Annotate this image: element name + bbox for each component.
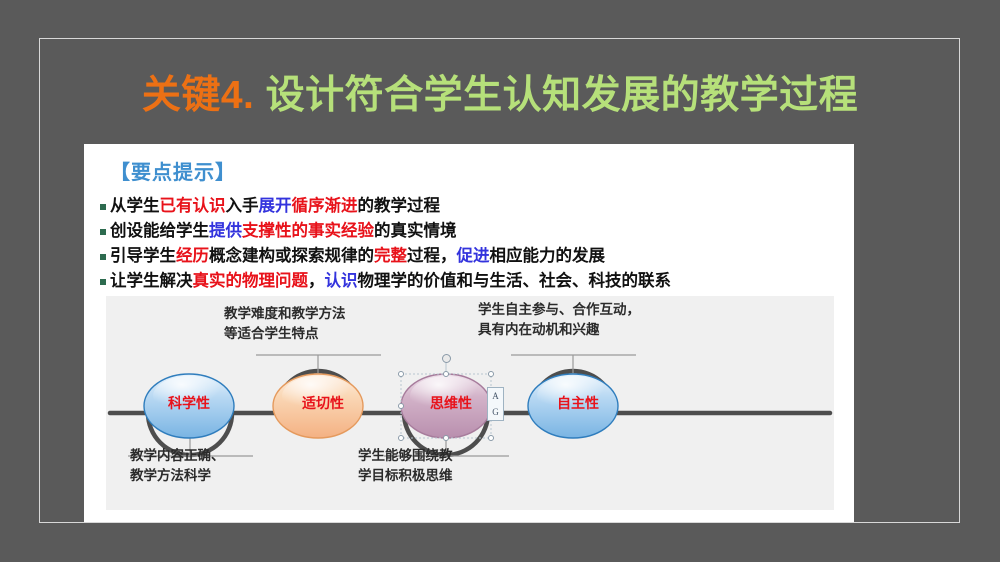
points-heading: 【要点提示】 bbox=[110, 156, 236, 185]
text-segment: 相应能力的发展 bbox=[490, 247, 606, 265]
text-segment: 促进 bbox=[457, 247, 490, 265]
list-item: 创设能给学生提供支撑性的事实经验的真实情境 bbox=[100, 219, 845, 244]
rotate-handle[interactable] bbox=[442, 354, 451, 363]
page-title: 关键4. 设计符合学生认知发展的教学过程 bbox=[0, 74, 1000, 119]
text-segment: 概念建构或探索规律的 bbox=[209, 247, 374, 265]
list-item: 从学生已有认识入手展开循序渐进的教学过程 bbox=[100, 194, 845, 219]
resize-handle-top-left[interactable] bbox=[398, 371, 404, 377]
bullet-list: 从学生已有认识入手展开循序渐进的教学过程 创设能给学生提供支撑性的事实经验的真实… bbox=[100, 194, 845, 294]
floating-format-toolbar[interactable]: A G bbox=[487, 387, 504, 421]
callout-line: 学目标积极思维 bbox=[358, 466, 453, 486]
text-segment: 物理学的价值和与生活、社会、科技的联系 bbox=[358, 272, 672, 290]
diagram-node-1-label[interactable]: 科学性 bbox=[144, 393, 234, 413]
bullet-text: 从学生已有认识入手展开循序渐进的教学过程 bbox=[110, 194, 440, 219]
page-title-main: 设计符合学生认知发展的教学过程 bbox=[254, 74, 858, 117]
square-bullet-icon bbox=[100, 204, 106, 210]
resize-handle-middle-left[interactable] bbox=[398, 403, 404, 409]
shape-fill-icon[interactable]: G bbox=[492, 408, 499, 417]
text-segment: 支撑性的事实经验 bbox=[242, 222, 374, 240]
resize-handle-top-right[interactable] bbox=[488, 371, 494, 377]
diagram-node-4-label[interactable]: 自主性 bbox=[533, 393, 623, 413]
list-item: 让学生解决真实的物理问题，认识物理学的价值和与生活、社会、科技的联系 bbox=[100, 269, 845, 294]
text-segment: 入手 bbox=[226, 197, 259, 215]
resize-handle-top-center[interactable] bbox=[443, 371, 449, 377]
callout-top-right: 学生自主参与、合作互动， 具有内在动机和兴趣 bbox=[478, 300, 640, 340]
text-segment: 循序渐进 bbox=[292, 197, 358, 215]
content-card: 【要点提示】 从学生已有认识入手展开循序渐进的教学过程 创设能给学生提供支撑性的… bbox=[84, 144, 854, 522]
text-segment: 让学生解决 bbox=[110, 272, 193, 290]
text-segment: 认识 bbox=[325, 272, 358, 290]
diagram-node-3-label[interactable]: 思维性 bbox=[406, 393, 496, 413]
text-segment: 过程， bbox=[407, 247, 457, 265]
resize-handle-bottom-center[interactable] bbox=[443, 435, 449, 441]
callout-bottom-left: 教学内容正确、 教学方法科学 bbox=[130, 446, 225, 486]
text-segment: 的真实情境 bbox=[374, 222, 457, 240]
text-segment: 的教学过程 bbox=[358, 197, 441, 215]
square-bullet-icon bbox=[100, 279, 106, 285]
list-item: 引导学生经历概念建构或探索规律的完整过程，促进相应能力的发展 bbox=[100, 244, 845, 269]
text-segment: ， bbox=[308, 272, 325, 290]
callout-line: 教学内容正确、 bbox=[130, 446, 225, 466]
text-segment: 引导学生 bbox=[110, 247, 176, 265]
resize-handle-bottom-right[interactable] bbox=[488, 435, 494, 441]
square-bullet-icon bbox=[100, 254, 106, 260]
square-bullet-icon bbox=[100, 229, 106, 235]
process-diagram[interactable]: 科学性 适切性 思维性 自主性 A G 教学难度和教学方法 等适合学生特点 bbox=[106, 296, 834, 510]
callout-line: 教学难度和教学方法 bbox=[224, 304, 346, 324]
page-title-prefix: 关键4. bbox=[142, 74, 255, 117]
callout-line: 教学方法科学 bbox=[130, 466, 225, 486]
text-segment: 完整 bbox=[374, 247, 407, 265]
text-segment: 创设能给学生 bbox=[110, 222, 209, 240]
callout-line: 等适合学生特点 bbox=[224, 324, 346, 344]
text-segment: 提供 bbox=[209, 222, 242, 240]
callout-line: 学生自主参与、合作互动， bbox=[478, 300, 640, 320]
callout-bottom-middle: 学生能够围绕教 学目标积极思维 bbox=[358, 446, 453, 486]
callout-top-left: 教学难度和教学方法 等适合学生特点 bbox=[224, 304, 346, 344]
text-segment: 真实的物理问题 bbox=[193, 272, 309, 290]
presentation-slide: 关键4. 设计符合学生认知发展的教学过程 【要点提示】 从学生已有认识入手展开循… bbox=[0, 0, 1000, 562]
bullet-text: 让学生解决真实的物理问题，认识物理学的价值和与生活、社会、科技的联系 bbox=[110, 269, 671, 294]
text-segment: 从学生 bbox=[110, 197, 160, 215]
callout-line: 具有内在动机和兴趣 bbox=[478, 320, 640, 340]
bullet-text: 引导学生经历概念建构或探索规律的完整过程，促进相应能力的发展 bbox=[110, 244, 605, 269]
callout-line: 学生能够围绕教 bbox=[358, 446, 453, 466]
text-segment: 经历 bbox=[176, 247, 209, 265]
text-segment: 展开 bbox=[259, 197, 292, 215]
bullet-text: 创设能给学生提供支撑性的事实经验的真实情境 bbox=[110, 219, 457, 244]
text-segment: 已有认识 bbox=[160, 197, 226, 215]
text-style-icon[interactable]: A bbox=[492, 392, 499, 401]
resize-handle-bottom-left[interactable] bbox=[398, 435, 404, 441]
diagram-node-2-label[interactable]: 适切性 bbox=[278, 393, 368, 413]
